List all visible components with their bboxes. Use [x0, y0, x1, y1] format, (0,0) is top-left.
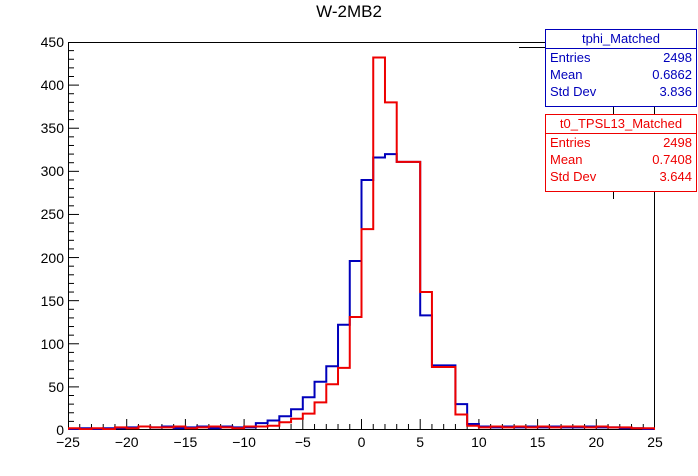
stats-box-title: tphi_Matched [546, 30, 696, 49]
stats-value: 2498 [663, 51, 692, 64]
stats-box-t0-tpsl13-matched[interactable]: t0_TPSL13_Matched Entries 2498 Mean 0.74… [545, 114, 697, 192]
x-tick-label: 0 [358, 434, 366, 450]
y-axis-tick-labels: 050100150200250300350400450 [8, 0, 64, 476]
stats-label: Std Dev [550, 85, 596, 98]
stats-row-stddev: Std Dev 3.836 [546, 83, 696, 100]
stats-value: 3.644 [659, 170, 692, 183]
stats-label: Entries [550, 136, 590, 149]
x-tick-label: −20 [115, 434, 139, 450]
stats-box-title: t0_TPSL13_Matched [546, 115, 696, 134]
stats-value: 0.7408 [652, 153, 692, 166]
x-tick-label: −25 [56, 434, 80, 450]
stats-row-mean: Mean 0.7408 [546, 151, 696, 168]
y-tick-label: 150 [12, 293, 64, 309]
stats-row-entries: Entries 2498 [546, 134, 696, 151]
x-tick-label: −10 [232, 434, 256, 450]
stats-label: Std Dev [550, 170, 596, 183]
x-tick-label: 25 [647, 434, 663, 450]
stats-row-entries: Entries 2498 [546, 49, 696, 66]
stats-label: Mean [550, 68, 583, 81]
stats-label: Mean [550, 153, 583, 166]
stats-row-mean: Mean 0.6862 [546, 66, 696, 83]
stats-value: 2498 [663, 136, 692, 149]
y-tick-label: 200 [12, 250, 64, 266]
y-tick-label: 100 [12, 336, 64, 352]
y-tick-label: 450 [12, 34, 64, 50]
stats-box-tphi-matched[interactable]: tphi_Matched Entries 2498 Mean 0.6862 St… [545, 29, 697, 107]
y-tick-label: 50 [12, 379, 64, 395]
y-tick-label: 300 [12, 163, 64, 179]
y-tick-label: 400 [12, 77, 64, 93]
x-tick-label: −15 [174, 434, 198, 450]
stats-leader-line-1 [519, 47, 545, 48]
stats-value: 3.836 [659, 85, 692, 98]
x-tick-label: −5 [295, 434, 311, 450]
x-tick-label: 5 [416, 434, 424, 450]
stats-value: 0.6862 [652, 68, 692, 81]
stats-row-stddev: Std Dev 3.644 [546, 168, 696, 185]
y-tick-label: 250 [12, 206, 64, 222]
y-tick-label: 350 [12, 120, 64, 136]
root-canvas: W-2MB2 050100150200250300350400450 −25−2… [0, 0, 698, 476]
page-title: W-2MB2 [0, 2, 698, 22]
stats-label: Entries [550, 51, 590, 64]
x-axis-tick-labels: −25−20−15−10−50510152025 [0, 434, 698, 458]
x-tick-label: 10 [471, 434, 487, 450]
x-tick-label: 20 [589, 434, 605, 450]
x-tick-label: 15 [530, 434, 546, 450]
